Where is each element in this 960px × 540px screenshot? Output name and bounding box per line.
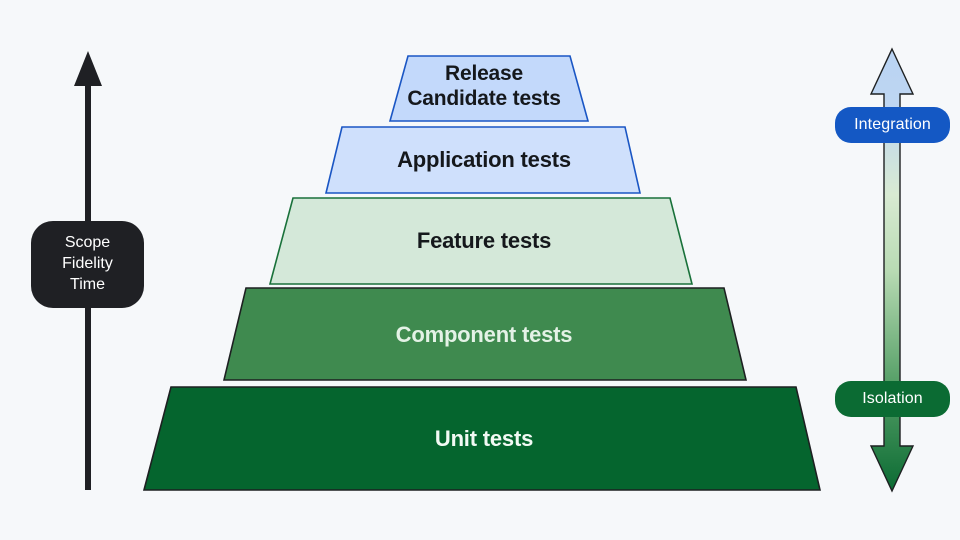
badge-integration: Integration <box>835 107 950 143</box>
badge-isolation: Isolation <box>835 381 950 417</box>
test-pyramid-graphic <box>0 0 960 540</box>
pyramid-layer-unit-tests[interactable] <box>144 387 820 490</box>
pyramid-layers <box>144 56 820 490</box>
diagram-canvas: Release Candidate tests Application test… <box>0 0 960 540</box>
axis-pill-line-time: Time <box>70 275 105 296</box>
pyramid-layer-release-candidate-tests[interactable] <box>390 56 588 121</box>
pyramid-layer-component-tests[interactable] <box>224 288 746 380</box>
axis-pill-line-fidelity: Fidelity <box>62 254 113 275</box>
pyramid-layer-application-tests[interactable] <box>326 127 640 193</box>
scope-fidelity-time-pill: Scope Fidelity Time <box>31 221 144 308</box>
axis-pill-line-scope: Scope <box>65 233 110 254</box>
pyramid-layer-feature-tests[interactable] <box>270 198 692 284</box>
